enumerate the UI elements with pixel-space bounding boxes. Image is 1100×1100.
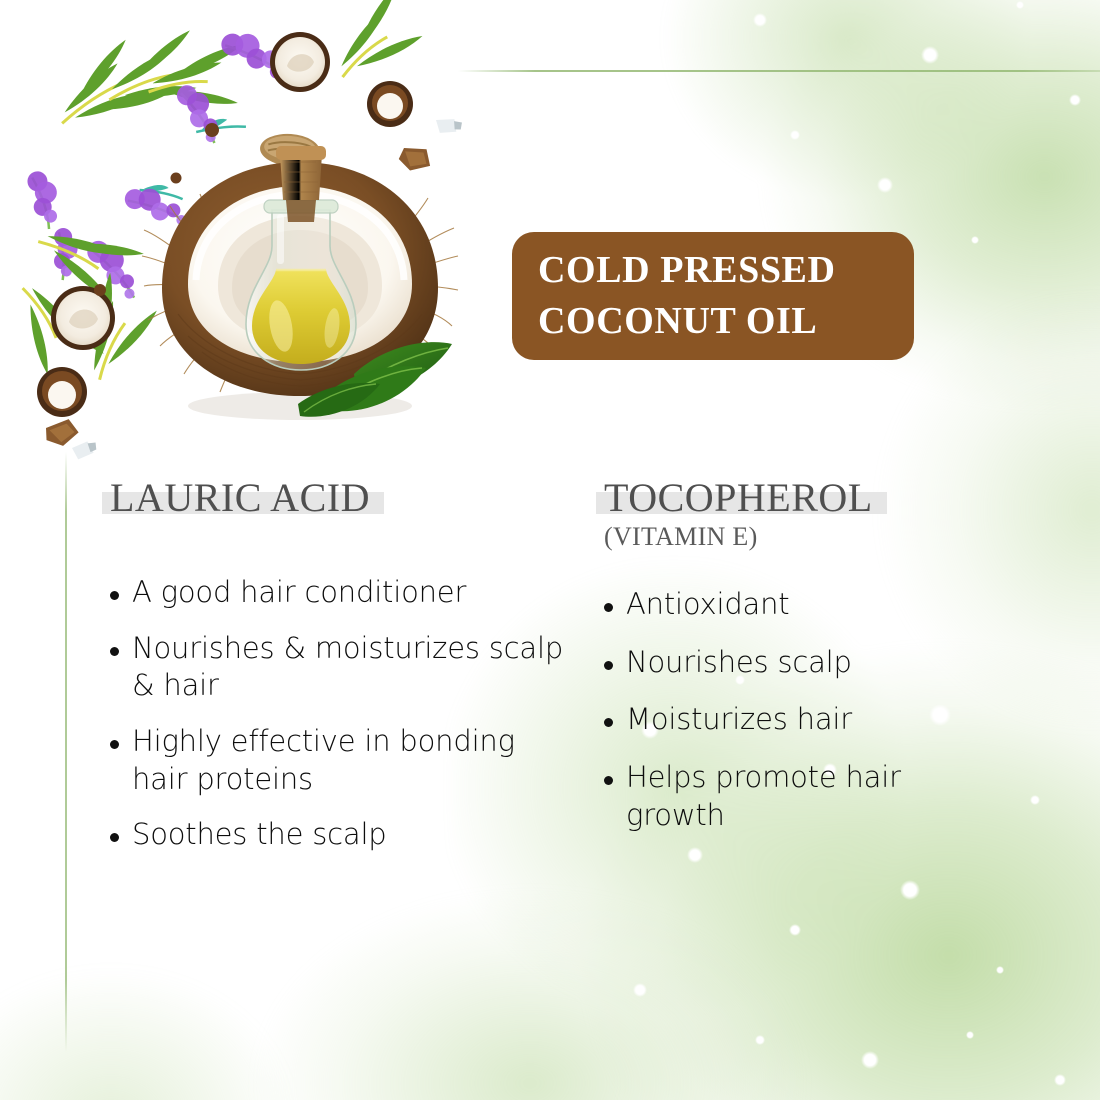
column-heading: TOCOPHEROL [604,476,873,520]
benefit-list: A good hair conditioner Nourishes & mois… [110,574,570,854]
list-item-label: Nourishes scalp [626,644,852,682]
column-heading-wrap: LAURIC ACID [110,476,370,520]
rosemary-sprig [94,24,211,120]
benefit-column-lauric-acid: LAURIC ACID A good hair conditioner Nour… [110,476,570,872]
column-subheading: (VITAMIN E) [604,522,1004,552]
rosemary-sprig [0,267,110,388]
rosemary-sprig [143,38,251,118]
list-item-label: Nourishes & moisturizes scalp & hair [132,630,570,705]
bullet-dot-icon [110,833,119,842]
rosemary-sprig [28,204,147,306]
lavender-flower [217,24,305,89]
list-item-label: Soothes the scalp [132,816,387,854]
bullet-dot-icon [110,591,119,600]
list-item-label: Highly effective in bonding hair protein… [132,723,570,798]
benefit-column-tocopherol: TOCOPHEROL (VITAMIN E) Antioxidant Nouri… [604,476,1004,854]
bullet-dot-icon [110,740,119,749]
coconut-chunk [43,418,80,449]
lavender-flower [83,233,149,304]
peppercorn [205,123,219,137]
bullet-dot-icon [604,776,613,785]
coconut-half [270,32,330,92]
lavender-flower [24,167,66,231]
list-item-label: Moisturizes hair [626,701,852,739]
rosemary-sprig [195,116,246,131]
list-item-label: A good hair conditioner [132,574,466,612]
rosemary-sprig [316,0,434,95]
product-title-badge: COLD PRESSED COCONUT OIL [512,232,914,360]
column-heading-wrap: TOCOPHEROL [604,476,873,520]
list-item: Moisturizes hair [604,701,1004,739]
left-vertical-rule [65,452,67,1052]
bullet-dot-icon [604,603,613,612]
peppercorn [94,284,106,296]
list-item-label: Helps promote hair growth [626,759,1004,834]
list-item: A good hair conditioner [110,574,570,612]
coconut-flake [434,116,462,136]
lavender-flower [53,228,79,281]
watercolor-wash-bottom-left [0,950,300,1100]
benefit-list: Antioxidant Nourishes scalp Moisturizes … [604,586,1004,834]
list-item: Highly effective in bonding hair protein… [110,723,570,798]
list-item: Helps promote hair growth [604,759,1004,834]
title-line-2: COCONUT OIL [538,296,817,347]
column-heading: LAURIC ACID [110,476,370,520]
bullet-dot-icon [604,661,613,670]
list-item: Soothes the scalp [110,816,570,854]
bullet-dot-icon [604,718,613,727]
list-item-label: Antioxidant [626,586,789,624]
coconut-oil-bottle-image [140,138,462,430]
top-horizontal-rule [458,70,1100,72]
coconut-half [51,286,115,350]
coconut-half [37,367,87,417]
rosemary-sprig [39,30,170,152]
list-item: Nourishes & moisturizes scalp & hair [110,630,570,705]
coconut-flake [71,441,97,460]
bullet-dot-icon [110,647,119,656]
list-item: Nourishes scalp [604,644,1004,682]
title-line-1: COLD PRESSED [538,245,836,296]
infographic-canvas: COLD PRESSED COCONUT OIL LAURIC ACID A g… [0,0,1100,1100]
coconut-half [367,81,413,127]
list-item: Antioxidant [604,586,1004,624]
